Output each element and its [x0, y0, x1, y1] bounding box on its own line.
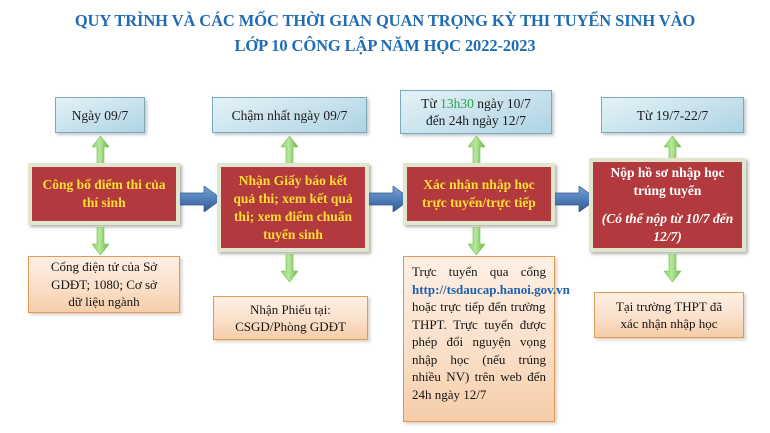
date-box-step-2-label: Chậm nhất ngày 09/7 — [232, 107, 348, 124]
detail-box-step-1-line-2: GDĐT; 1080; Cơ sở — [51, 276, 157, 294]
date-box-step-2: Chậm nhất ngày 09/7 — [212, 97, 367, 133]
process-box-step-4-line-1: Nộp hồ sơ nhập học — [610, 164, 724, 182]
detail-box-step-2-line-1: Nhận Phiếu tại: — [250, 301, 331, 319]
green-down-arrow-step-4 — [664, 254, 681, 282]
detail-box-step-4-line-1: Tại trường THPT đã — [616, 298, 722, 316]
process-box-step-4: Nộp hồ sơ nhập học trúng tuyển (Có thể n… — [589, 158, 746, 252]
date-box-step-3-highlight: 13h30 — [440, 96, 474, 111]
green-up-arrow-step-1 — [92, 136, 109, 164]
date-box-step-1-label: Ngày 09/7 — [72, 107, 129, 124]
process-box-step-2-line-4: tuyển sinh — [263, 226, 323, 244]
detail-box-step-2-line-2: CSGD/Phòng GDĐT — [235, 318, 346, 336]
process-box-step-3-line-1: Xác nhận nhập học — [423, 176, 534, 194]
process-box-step-2-line-3: thi; xem điểm chuẩn — [234, 208, 352, 226]
date-box-step-3-line-2: đến 24h ngày 12/7 — [426, 112, 526, 129]
process-box-step-1-line-1: Công bố điểm thi của — [42, 176, 165, 194]
page-title: QUY TRÌNH VÀ CÁC MỐC THỜI GIAN QUAN TRỌN… — [0, 8, 770, 58]
detail-box-step-3: Trực tuyến qua cổng http://tsdaucap.hano… — [403, 256, 555, 422]
date-box-step-3-prefix: Từ — [421, 96, 440, 111]
process-box-step-2: Nhận Giấy báo kết quả thi; xem kết quả t… — [217, 163, 369, 252]
process-box-step-1: Công bố điểm thi của thí sinh — [28, 163, 180, 225]
green-down-arrow-step-1 — [92, 227, 109, 255]
page-title-line-2: LỚP 10 CÔNG LẬP NĂM HỌC 2022-2023 — [0, 33, 770, 58]
page-title-line-1: QUY TRÌNH VÀ CÁC MỐC THỜI GIAN QUAN TRỌN… — [0, 8, 770, 33]
detail-box-step-3-prefix: Trực tuyến qua cổng — [412, 264, 546, 279]
detail-box-step-4: Tại trường THPT đã xác nhận nhập học — [594, 292, 744, 338]
process-box-step-3-line-2: trực tuyến/trực tiếp — [422, 194, 536, 212]
process-box-step-4-note: (Có thể nộp từ 10/7 đến 12/7) — [599, 210, 736, 246]
process-box-step-3: Xác nhận nhập học trực tuyến/trực tiếp — [403, 163, 555, 225]
detail-box-step-1-line-1: Cổng điện tử của Sở — [51, 258, 157, 276]
detail-box-step-1: Cổng điện tử của Sở GDĐT; 1080; Cơ sở dữ… — [28, 256, 180, 313]
diagram-canvas: QUY TRÌNH VÀ CÁC MỐC THỜI GIAN QUAN TRỌN… — [0, 0, 770, 433]
date-box-step-3-suffix: ngày 10/7 — [474, 96, 531, 111]
blue-right-arrow-1-to-2 — [180, 186, 222, 212]
detail-box-step-3-suffix: hoặc trực tiếp đến trường THPT. Trực tuy… — [412, 299, 546, 402]
process-box-step-1-line-2: thí sinh — [82, 194, 125, 212]
date-box-step-4-label: Từ 19/7-22/7 — [637, 107, 708, 124]
date-box-step-3-line-1: Từ 13h30 ngày 10/7 — [421, 95, 531, 112]
detail-box-step-4-line-2: xác nhận nhập học — [620, 315, 717, 333]
detail-box-step-1-line-3: dữ liệu ngành — [68, 293, 139, 311]
date-box-step-1: Ngày 09/7 — [55, 97, 145, 133]
process-box-step-2-line-1: Nhận Giấy báo kết — [239, 172, 347, 190]
process-box-step-2-line-2: quả thi; xem kết quả — [233, 190, 352, 208]
detail-box-step-3-link[interactable]: http://tsdaucap.hanoi.gov.vn — [412, 282, 570, 297]
green-down-arrow-step-2 — [281, 254, 298, 282]
detail-box-step-2: Nhận Phiếu tại: CSGD/Phòng GDĐT — [213, 296, 368, 340]
process-box-step-4-line-2: trúng tuyển — [634, 182, 702, 200]
green-up-arrow-step-2 — [281, 136, 298, 164]
date-box-step-4: Từ 19/7-22/7 — [601, 97, 744, 133]
green-down-arrow-step-3 — [468, 227, 485, 255]
date-box-step-3: Từ 13h30 ngày 10/7 đến 24h ngày 12/7 — [400, 90, 552, 134]
green-up-arrow-step-3 — [468, 136, 485, 164]
